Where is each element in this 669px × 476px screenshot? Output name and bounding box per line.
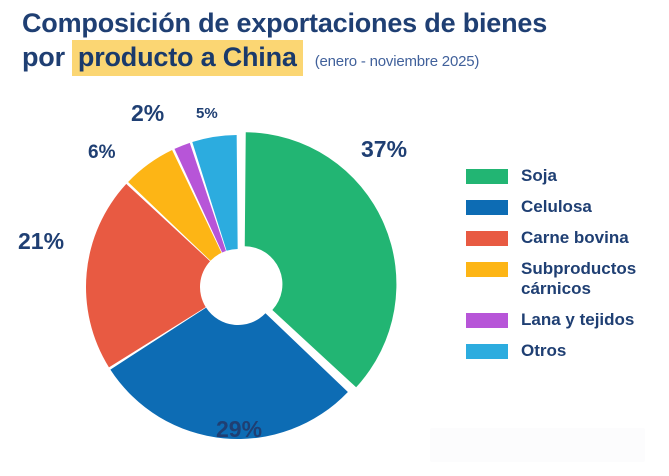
legend-label: Celulosa (521, 197, 592, 217)
legend-item-celulosa[interactable]: Celulosa (466, 197, 666, 217)
watermark (430, 428, 645, 462)
legend-swatch-icon (466, 200, 508, 215)
slice-label-otros: 5% (196, 105, 218, 122)
title-prefix: por (22, 40, 65, 74)
slice-label-carne-bovina: 21% (18, 228, 64, 255)
legend-item-lana-y-tejidos[interactable]: Lana y tejidos (466, 310, 666, 330)
chart-header: Composición de exportaciones de bienes p… (22, 6, 652, 79)
donut-chart: 37% 29% 21% 6% 2% 5% (0, 96, 460, 476)
legend-label: Otros (521, 341, 566, 361)
chart-subtitle: (enero - noviembre 2025) (315, 45, 479, 79)
legend-label: Soja (521, 166, 557, 186)
slice-label-soja: 37% (361, 136, 407, 163)
legend-item-carne-bovina[interactable]: Carne bovina (466, 228, 666, 248)
legend-swatch-icon (466, 169, 508, 184)
donut-center-hole (202, 251, 274, 323)
slice-label-subproductos: 6% (88, 142, 115, 164)
chart-legend: Soja Celulosa Carne bovina Subproductos … (466, 166, 666, 372)
title-highlighted-phrase: producto a China (72, 40, 303, 76)
legend-label: Subproductos cárnicos (521, 259, 636, 299)
legend-label: Lana y tejidos (521, 310, 634, 330)
slice-label-celulosa: 29% (216, 416, 262, 443)
legend-swatch-icon (466, 313, 508, 328)
legend-item-otros[interactable]: Otros (466, 341, 666, 361)
legend-item-soja[interactable]: Soja (466, 166, 666, 186)
legend-item-subproductos-carnicos[interactable]: Subproductos cárnicos (466, 259, 666, 299)
legend-swatch-icon (466, 231, 508, 246)
slice-label-lana: 2% (131, 100, 164, 127)
legend-label: Carne bovina (521, 228, 629, 248)
legend-swatch-icon (466, 344, 508, 359)
page-title-line-1: Composición de exportaciones de bienes (22, 6, 652, 40)
legend-swatch-icon (466, 262, 508, 277)
page-title-line-2: por producto a China (enero - noviembre … (22, 40, 652, 79)
